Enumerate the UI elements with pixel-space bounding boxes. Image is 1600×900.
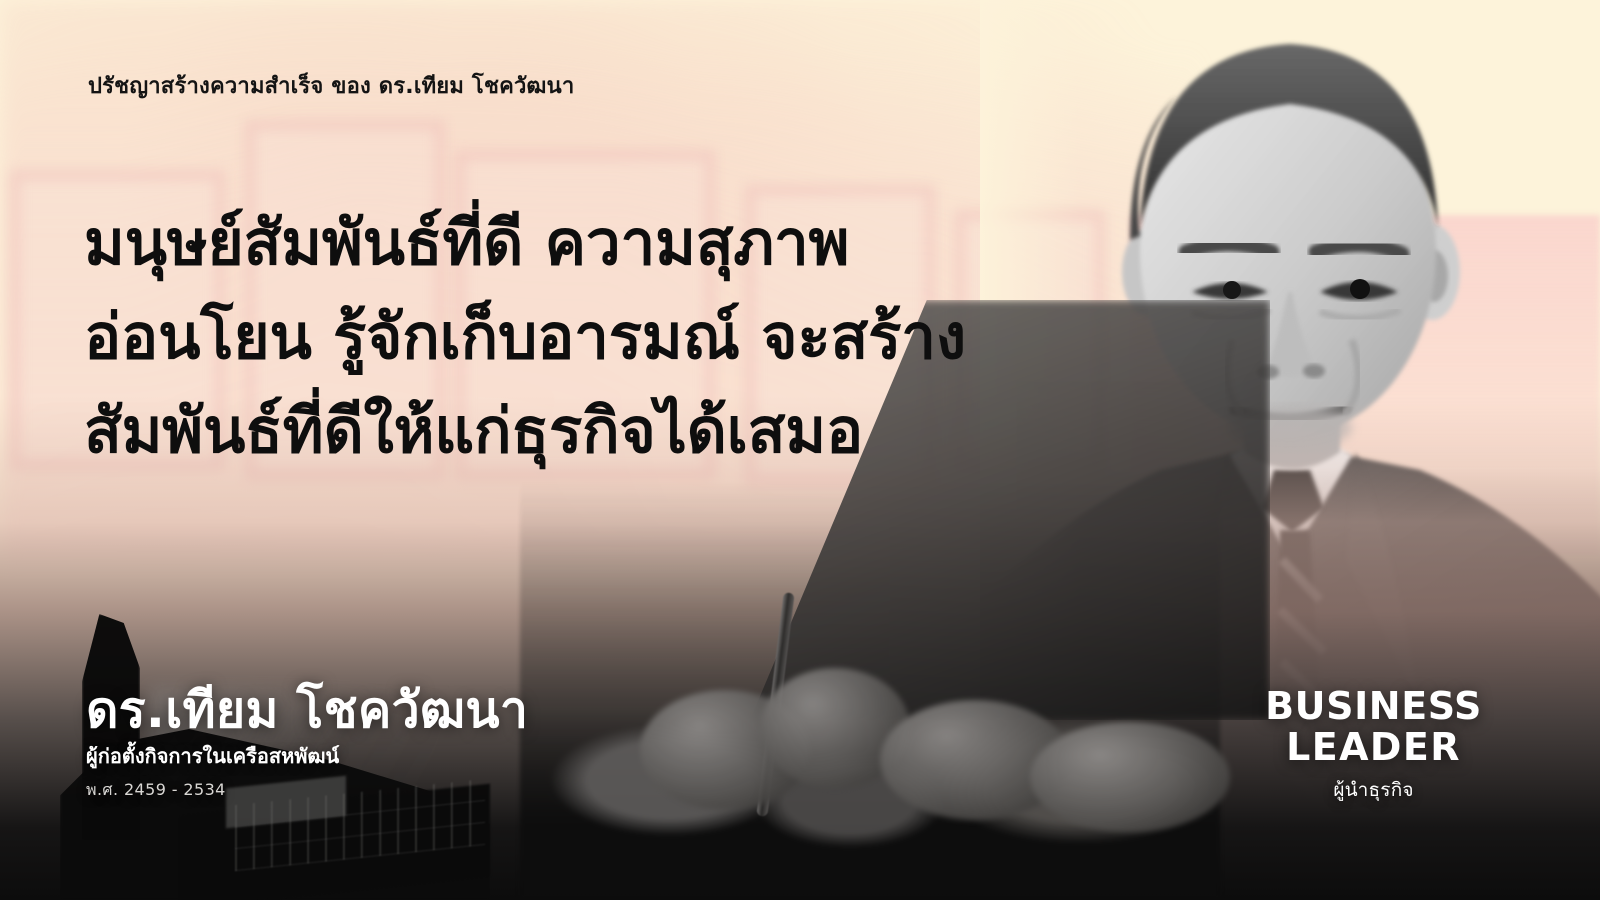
founder-name: ดร.เทียม โชควัฒนา <box>86 683 528 737</box>
hand-blob <box>1030 722 1230 832</box>
quote-line-2: อ่อนโยน รู้จักเก็บอารมณ์ จะสร้าง <box>84 290 1094 384</box>
brand-logo: BUSINESS LEADER ผู้นำธุรกิจ <box>1265 686 1482 805</box>
quote-block: มนุษย์สัมพันธ์ที่ดี ความสุภาพ อ่อนโยน รู… <box>84 196 1094 479</box>
brand-subtitle: ผู้นำธุรกิจ <box>1265 775 1482 805</box>
brand-line-2: LEADER <box>1265 727 1482 768</box>
founder-role: ผู้ก่อตั้งกิจการในเครือสหพัฒน์ <box>86 743 528 769</box>
quote-card: ปรัชญาสร้างความสำเร็จ ของ ดร.เทียม โชควั… <box>0 0 1600 900</box>
quote-line-3: สัมพันธ์ที่ดีให้แก่ธุรกิจได้เสมอ <box>84 384 1094 478</box>
eyebrow-heading: ปรัชญาสร้างความสำเร็จ ของ ดร.เทียม โชควั… <box>88 68 574 103</box>
attribution-block: ดร.เทียม โชควัฒนา ผู้ก่อตั้งกิจการในเครื… <box>86 683 528 803</box>
quote-line-1: มนุษย์สัมพันธ์ที่ดี ความสุภาพ <box>84 196 1094 290</box>
founder-years: พ.ศ. 2459 - 2534 <box>86 778 528 803</box>
brand-line-1: BUSINESS <box>1265 686 1482 727</box>
